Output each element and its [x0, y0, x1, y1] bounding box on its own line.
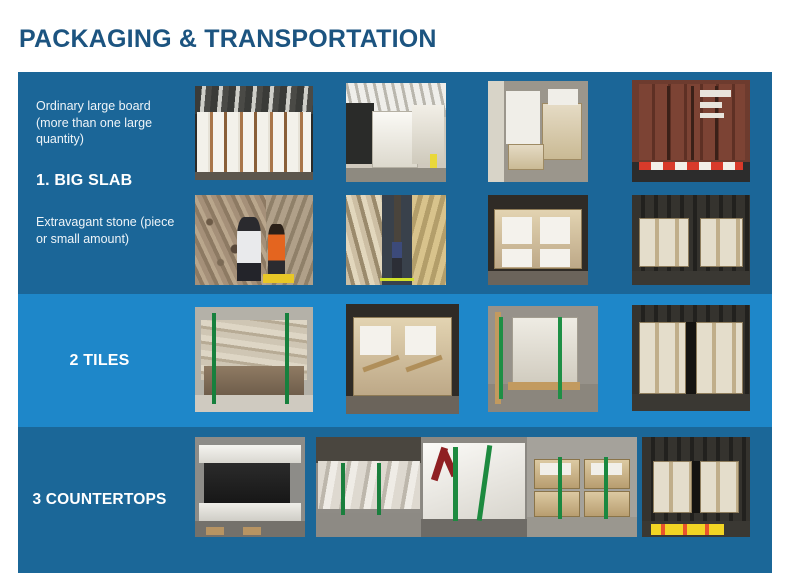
photo-slab-storage-aisle-with-worker[interactable] — [346, 195, 446, 285]
photo-crate-being-loaded-in-container[interactable] — [488, 306, 598, 412]
photo-crates-and-slabs-in-container[interactable] — [488, 81, 588, 182]
section-big-slab: Ordinary large board (more than one larg… — [18, 72, 772, 294]
packaging-panel: Ordinary large board (more than one larg… — [18, 72, 772, 573]
photo-worker-inside-container-with-crates[interactable] — [632, 195, 750, 285]
tiles-label-column: 2 TILES — [18, 294, 181, 427]
page-title: PACKAGING & TRANSPORTATION — [19, 25, 437, 54]
photo-crates-loaded-inside-container[interactable] — [642, 437, 750, 537]
photo-white-wrapped-bundle-with-straps[interactable] — [421, 437, 527, 537]
photo-container-interior-loaded-with-crates[interactable] — [632, 305, 750, 411]
photo-wooden-crate-pallets-with-white-panels[interactable] — [346, 304, 459, 414]
photo-wooden-crates-strapped-on-pallets[interactable] — [527, 437, 637, 537]
big-slab-title: 1. BIG SLAB — [36, 172, 132, 190]
photo-shipping-container-rear-doors-on-truck[interactable] — [632, 80, 750, 182]
tiles-title: 2 TILES — [18, 294, 181, 427]
photo-slabs-loading-into-container[interactable] — [346, 83, 446, 182]
tiles-photo-area — [181, 294, 772, 427]
photo-strapped-stone-tile-pallet[interactable] — [195, 307, 313, 412]
photo-grey-marble-countertops-on-pallet[interactable] — [316, 437, 422, 537]
section-countertops: 3 COUNTERTOPS — [18, 427, 772, 573]
big-slab-description-extravagant: Extravagant stone (piece or small amount… — [36, 214, 176, 247]
big-slab-photo-area — [181, 72, 772, 294]
countertops-photo-area — [181, 427, 772, 573]
photo-black-and-white-countertop-slabs[interactable] — [195, 437, 305, 537]
big-slab-description-ordinary: Ordinary large board (more than one larg… — [36, 98, 176, 148]
photo-workers-handling-granite-slab[interactable] — [195, 195, 313, 285]
countertops-label-column: 3 COUNTERTOPS — [18, 427, 181, 573]
countertops-title: 3 COUNTERTOPS — [18, 427, 181, 573]
photo-warehouse-white-wrapped-slabs[interactable] — [195, 86, 313, 180]
big-slab-label-column: Ordinary large board (more than one larg… — [18, 72, 181, 294]
photo-wooden-crates-stacked-in-container[interactable] — [488, 195, 588, 285]
section-tiles: 2 TILES — [18, 294, 772, 427]
